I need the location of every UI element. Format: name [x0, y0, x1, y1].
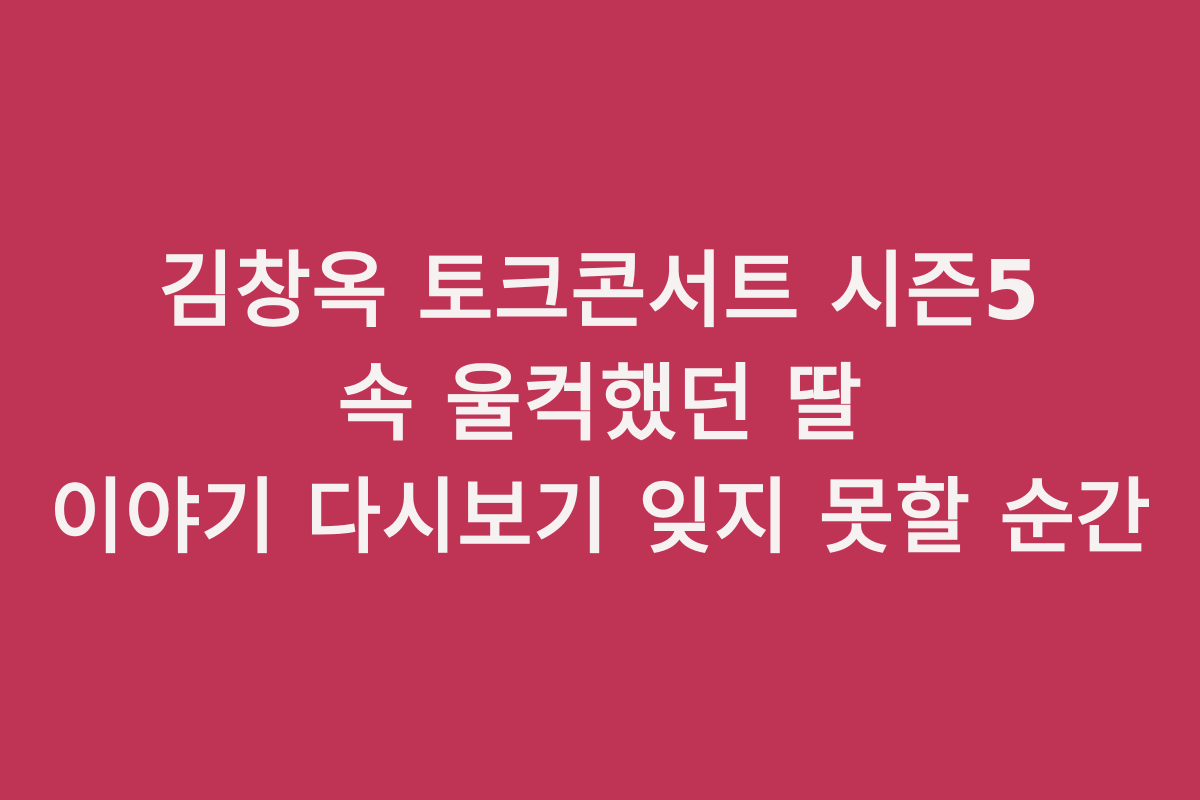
thumbnail-card: 김창옥 토크콘서트 시즌5 속 울컥했던 딸 이야기 다시보기 잊지 못할 순간: [0, 0, 1200, 800]
headline-line-3: 이야기 다시보기 잊지 못할 순간: [49, 461, 1151, 573]
headline-line-2: 속 울컥했던 딸: [337, 347, 862, 462]
headline-block: 김창옥 토크콘서트 시즌5 속 울컥했던 딸 이야기 다시보기 잊지 못할 순간: [0, 235, 1200, 574]
headline-line-1: 김창옥 토크콘서트 시즌5: [159, 234, 1041, 347]
